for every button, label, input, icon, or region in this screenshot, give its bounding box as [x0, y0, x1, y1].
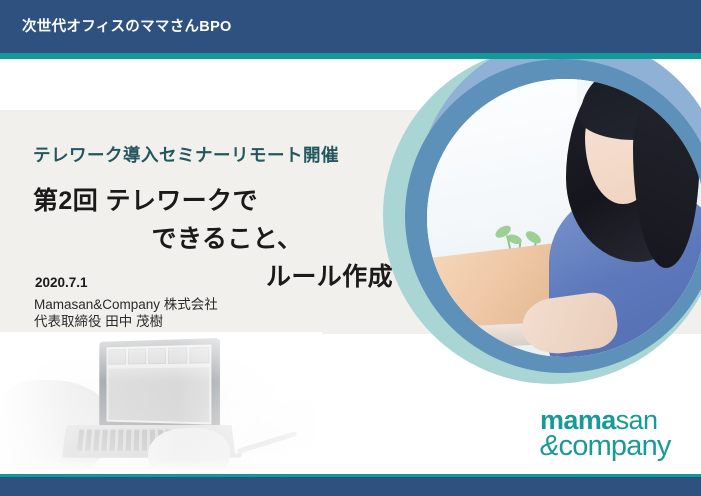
- slide-subtitle: テレワーク導入セミナーリモート開催: [33, 142, 339, 167]
- footer-band: [0, 477, 701, 496]
- header-band: 次世代オフィスのママさんBPO: [0, 0, 701, 53]
- hero-photo-woman-laptop: [427, 79, 701, 357]
- logo-text-ampersand: &: [540, 430, 559, 462]
- slide-presenter-name: 代表取締役 田中 茂樹: [34, 310, 163, 330]
- slide-title-line-2: できること、: [33, 220, 393, 258]
- photo-fade-overlay: [0, 332, 322, 474]
- background-photo-video-conference: [0, 332, 322, 474]
- presentation-slide: 次世代オフィスのママさんBPO テレワーク導入セミナーリモート開催 第2回 テレ…: [0, 0, 701, 496]
- header-teal-divider: [0, 53, 701, 59]
- company-logo: mamasan &company: [540, 408, 671, 461]
- logo-line-2: &company: [540, 433, 671, 460]
- header-title: 次世代オフィスのママさんBPO: [22, 15, 232, 36]
- slide-title-line-1: 第2回 テレワークで: [33, 182, 393, 220]
- slide-date: 2020.7.1: [35, 275, 88, 290]
- logo-text-company: company: [559, 430, 671, 462]
